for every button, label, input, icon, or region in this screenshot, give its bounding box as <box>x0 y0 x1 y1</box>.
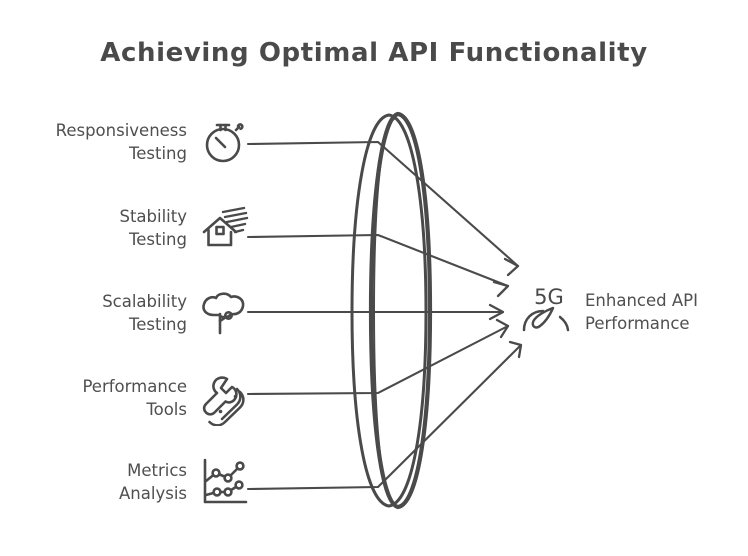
lens-inner-rim <box>374 119 394 503</box>
input-label-scalability-testing: Scalability Testing <box>102 290 196 336</box>
wrench-tools-icon <box>196 370 252 426</box>
ray-line-4 <box>248 326 508 394</box>
cloud-tree-icon <box>196 285 252 341</box>
5g-speedometer-icon: 5G <box>520 283 576 341</box>
page-title: Achieving Optimal API Functionality <box>0 38 748 68</box>
output-label: Enhanced API Performance <box>576 289 698 335</box>
input-label-performance-tools: Performance Tools <box>82 375 196 421</box>
ray-arrowhead-3 <box>490 305 503 319</box>
lens-front-ellipse <box>352 115 426 506</box>
input-row-stability-testing[interactable]: Stability Testing <box>0 196 252 260</box>
input-row-responsiveness-testing[interactable]: Responsiveness Testing <box>0 110 252 174</box>
input-row-scalability-testing[interactable]: Scalability Testing <box>0 281 252 345</box>
ray-line-1 <box>248 142 518 266</box>
input-label-stability-testing: Stability Testing <box>119 205 196 251</box>
stopwatch-icon <box>196 114 252 170</box>
input-row-performance-tools[interactable]: Performance Tools <box>0 366 252 430</box>
line-chart-icon <box>196 454 252 510</box>
input-label-responsiveness-testing: Responsiveness Testing <box>56 119 196 165</box>
output-node[interactable]: 5G Enhanced API Performance <box>520 276 740 348</box>
input-row-metrics-analysis[interactable]: Metrics Analysis <box>0 450 252 514</box>
ray-line-5 <box>248 345 521 489</box>
5g-icon-text: 5G <box>534 285 564 309</box>
ray-arrowhead-2 <box>494 282 508 296</box>
lens-back-ellipse <box>371 114 430 507</box>
input-label-metrics-analysis: Metrics Analysis <box>119 459 196 505</box>
house-signal-icon <box>196 200 252 256</box>
ray-arrowhead-4 <box>497 320 508 337</box>
diagram-canvas: Achieving Optimal API Functionality <box>0 0 748 556</box>
ray-line-2 <box>248 235 508 286</box>
ray-arrowhead-1 <box>505 259 518 275</box>
